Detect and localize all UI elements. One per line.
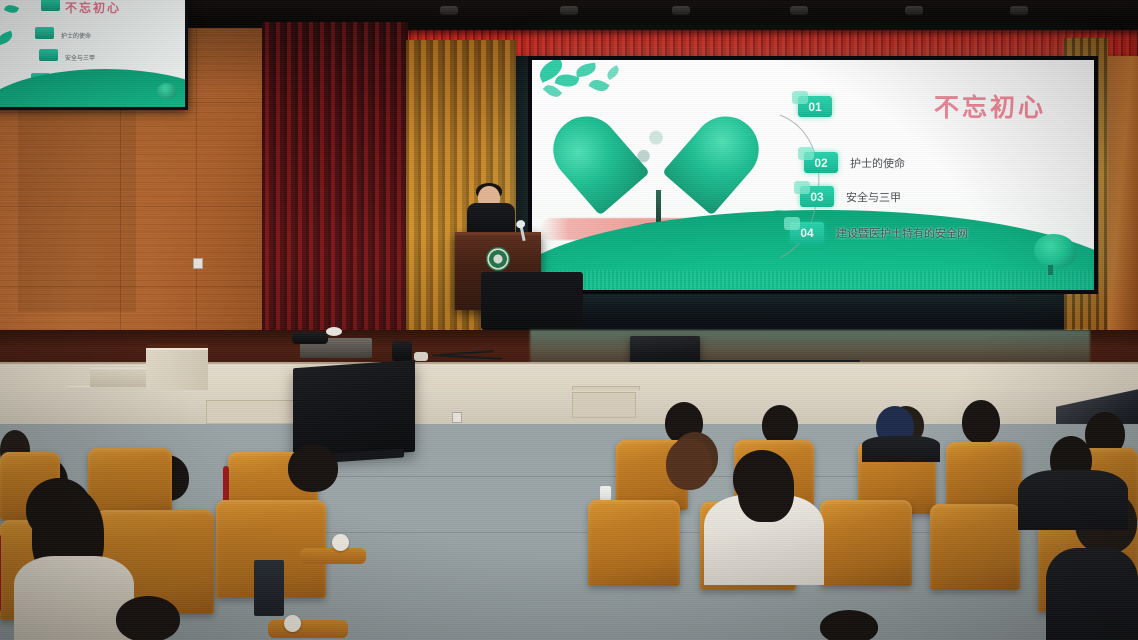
slide-bullet-01: 01 [798,96,844,117]
audience-shoulders [862,436,940,462]
equipment-white-object [326,327,342,336]
bullet-label: 安全与三甲 [846,189,901,205]
bullet-label: 安全与三甲 [65,53,95,62]
bullet-number-badge: 04 [790,222,824,243]
seat[interactable] [946,442,1022,512]
seat-number-plate [332,534,349,551]
led-screen-wall[interactable]: 不忘初心 01 02 护士的使命 03 安全与三甲 04 建设暨医护士特有的安全… [528,56,1098,294]
leaf-icon [575,63,596,78]
bullet-number-badge [39,49,58,61]
bullet-label: 护士的使命 [61,31,91,40]
auditorium-photo: 不忘初心 01 02 护士的使命 03 安全与三甲 04 建设暨医护士特有的安全… [0,0,1138,640]
wall-plate [206,400,302,424]
seat[interactable] [88,448,172,518]
bullet-label: 建设暨医护士特有的安全网 [836,225,968,241]
seat-side-panel [254,560,284,616]
bullet-label: 护士的使命 [850,155,905,171]
wall-outlet-icon [193,258,203,269]
hill-texture [532,270,1094,290]
audience-head [762,405,798,445]
presentation-slide: 不忘初心 01 02 护士的使命 03 安全与三甲 04 建设暨医护士特有的安全… [532,60,1094,290]
slide-title: 不忘初心 [934,88,1046,124]
audience-shoulders [1046,548,1138,640]
audience-head [116,596,180,640]
confidence-monitor[interactable]: 不忘初心 护士的使命 安全与三甲 建设暨医护士特有的安全网 [0,0,188,110]
wall-seam [196,28,197,373]
ceiling-light-icon [905,6,923,15]
seat[interactable] [930,504,1020,590]
ceiling-light-icon [672,6,690,15]
wall-seam [0,206,262,207]
ceiling-light-icon [1010,6,1028,15]
equipment-case [292,332,328,344]
bush-icon [157,83,177,99]
bullet-number-badge [35,27,54,39]
wall-seam [0,286,262,287]
wall-outlet-icon [452,412,462,423]
ceiling-light-icon [790,6,808,15]
bullet-number-badge: 03 [800,186,834,207]
bullet-number-badge: 01 [798,96,832,117]
canopy-texture [604,104,708,188]
ceiling-light-icon [440,6,458,15]
left-stage-curtain [262,22,408,352]
audience-hair [738,452,794,522]
leaf-icon [588,76,609,95]
ceiling-light-icon [560,6,578,15]
leaf-icon [4,3,19,16]
audience-shoulders [1018,470,1128,530]
audience-head [288,444,338,492]
seat-arm [268,620,348,638]
seat-number-plate [284,615,301,632]
seat[interactable] [820,500,912,586]
audience-head [820,610,878,640]
bullet-number-badge [41,0,60,11]
audience-head [666,438,712,490]
bullet-number-badge: 02 [804,152,838,173]
audience-shoulders [14,556,134,640]
floor-speaker-box [630,336,700,364]
heart-canopy [592,98,720,208]
wall-plate [572,392,636,418]
equipment-plug [414,352,428,361]
hospital-crest-icon [486,247,510,271]
equipment-box [392,341,412,361]
leaf-icon [605,65,622,80]
stage-monitor-screen[interactable] [481,272,583,330]
bush-icon [1034,234,1076,268]
seat[interactable] [588,500,680,586]
confidence-monitor-slide: 不忘初心 护士的使命 安全与三甲 建设暨医护士特有的安全网 [0,0,185,107]
slide-bullet-02: 02 护士的使命 [804,152,905,173]
slide-bullet-04: 04 建设暨医护士特有的安全网 [790,222,968,243]
slide-title: 不忘初心 [65,0,121,16]
seat-arm [300,548,366,564]
slide-bullet-03: 03 安全与三甲 [800,186,901,207]
leaf-icon [0,31,14,46]
audience-head [962,400,1000,444]
